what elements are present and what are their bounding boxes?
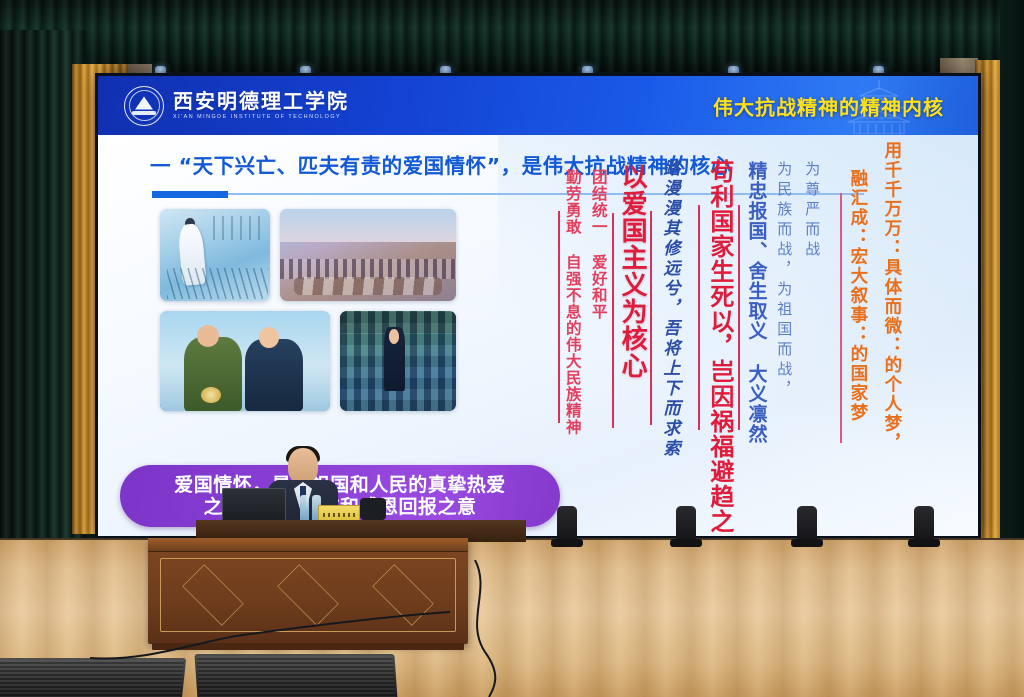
ceiling-light <box>582 66 593 75</box>
vertical-text-fight-dignity: 为尊严而战 <box>804 161 820 261</box>
vertical-text-personal-dream: 用千千万万：具体而微：的个人梦， <box>882 141 901 453</box>
floor-cable-right <box>455 560 545 697</box>
divider-rule-1 <box>558 211 560 423</box>
presentation-screen: 西安明德理工学院 XI'AN MINGDE INSTITUTE OF TECHN… <box>98 76 978 536</box>
divider-rule-5 <box>738 205 740 430</box>
photo-opium-destruction <box>280 209 456 301</box>
microphone <box>360 498 386 520</box>
ceiling-light <box>155 66 166 75</box>
stage-light-fixture <box>797 506 817 542</box>
university-name-cn: 西安明德理工学院 <box>173 91 349 112</box>
water-bottle <box>300 495 309 522</box>
ceiling-light <box>300 66 311 75</box>
auditorium-scene: 西安明德理工学院 XI'AN MINGDE INSTITUTE OF TECHN… <box>0 0 1024 697</box>
slide-body: 一 “天下兴亡、匹夫有责的爱国情怀”，是伟大抗战精神的核心 勤劳勇敢 自强不息的… <box>98 135 978 536</box>
vertical-text-fight-nation: 为民族而战，为祖国而战， <box>776 161 792 401</box>
floor-cable <box>90 610 510 670</box>
vertical-text-linzexu-quote: 苟利国家生死以，岂因祸福避趋之 <box>706 159 732 534</box>
university-name-en: XI'AN MINGDE INSTITUTE OF TECHNOLOGY <box>173 114 349 120</box>
presenter-head <box>288 448 318 484</box>
ceiling-light <box>873 66 884 75</box>
vertical-text-core: 以爱国主义为核心 <box>618 163 646 379</box>
divider-rule-3 <box>650 211 652 425</box>
divider-rule-6 <box>840 193 842 443</box>
ceiling-light <box>440 66 451 75</box>
divider-rule-4 <box>698 205 700 430</box>
vertical-text-national-dream: 融汇成：宏大叙事：的国家梦 <box>848 169 867 423</box>
divider-rule-2 <box>612 213 614 428</box>
stage-light-fixture <box>557 506 577 542</box>
vertical-text-quyuan-quote: 路漫漫其修远兮，吾将上下而求索 <box>660 159 678 459</box>
vertical-text-unity: 团结统一 爱好和平 <box>590 169 607 320</box>
photo-students-group <box>340 311 456 411</box>
vertical-text-loyalty: 精忠报国、舍生取义 大义凛然 <box>746 161 767 444</box>
slide-header-title: 伟大抗战精神的精神内核 <box>713 91 944 120</box>
ceiling-light <box>728 66 739 75</box>
photo-veterans-saluting <box>160 311 330 411</box>
vertical-text-diligence: 勤劳勇敢 自强不息的伟大民族精神 <box>564 169 581 436</box>
stage-curtain-top <box>0 0 1024 72</box>
university-seal-icon <box>124 86 164 126</box>
stage-light-fixture <box>914 506 934 542</box>
laptop <box>222 488 286 524</box>
stage-curtain-right <box>1000 0 1024 560</box>
photo-qu-yuan <box>160 209 270 301</box>
stage-light-fixture <box>676 506 696 542</box>
university-logo: 西安明德理工学院 XI'AN MINGDE INSTITUTE OF TECHN… <box>124 86 349 126</box>
slide-header-bar: 西安明德理工学院 XI'AN MINGDE INSTITUTE OF TECHN… <box>98 76 978 135</box>
